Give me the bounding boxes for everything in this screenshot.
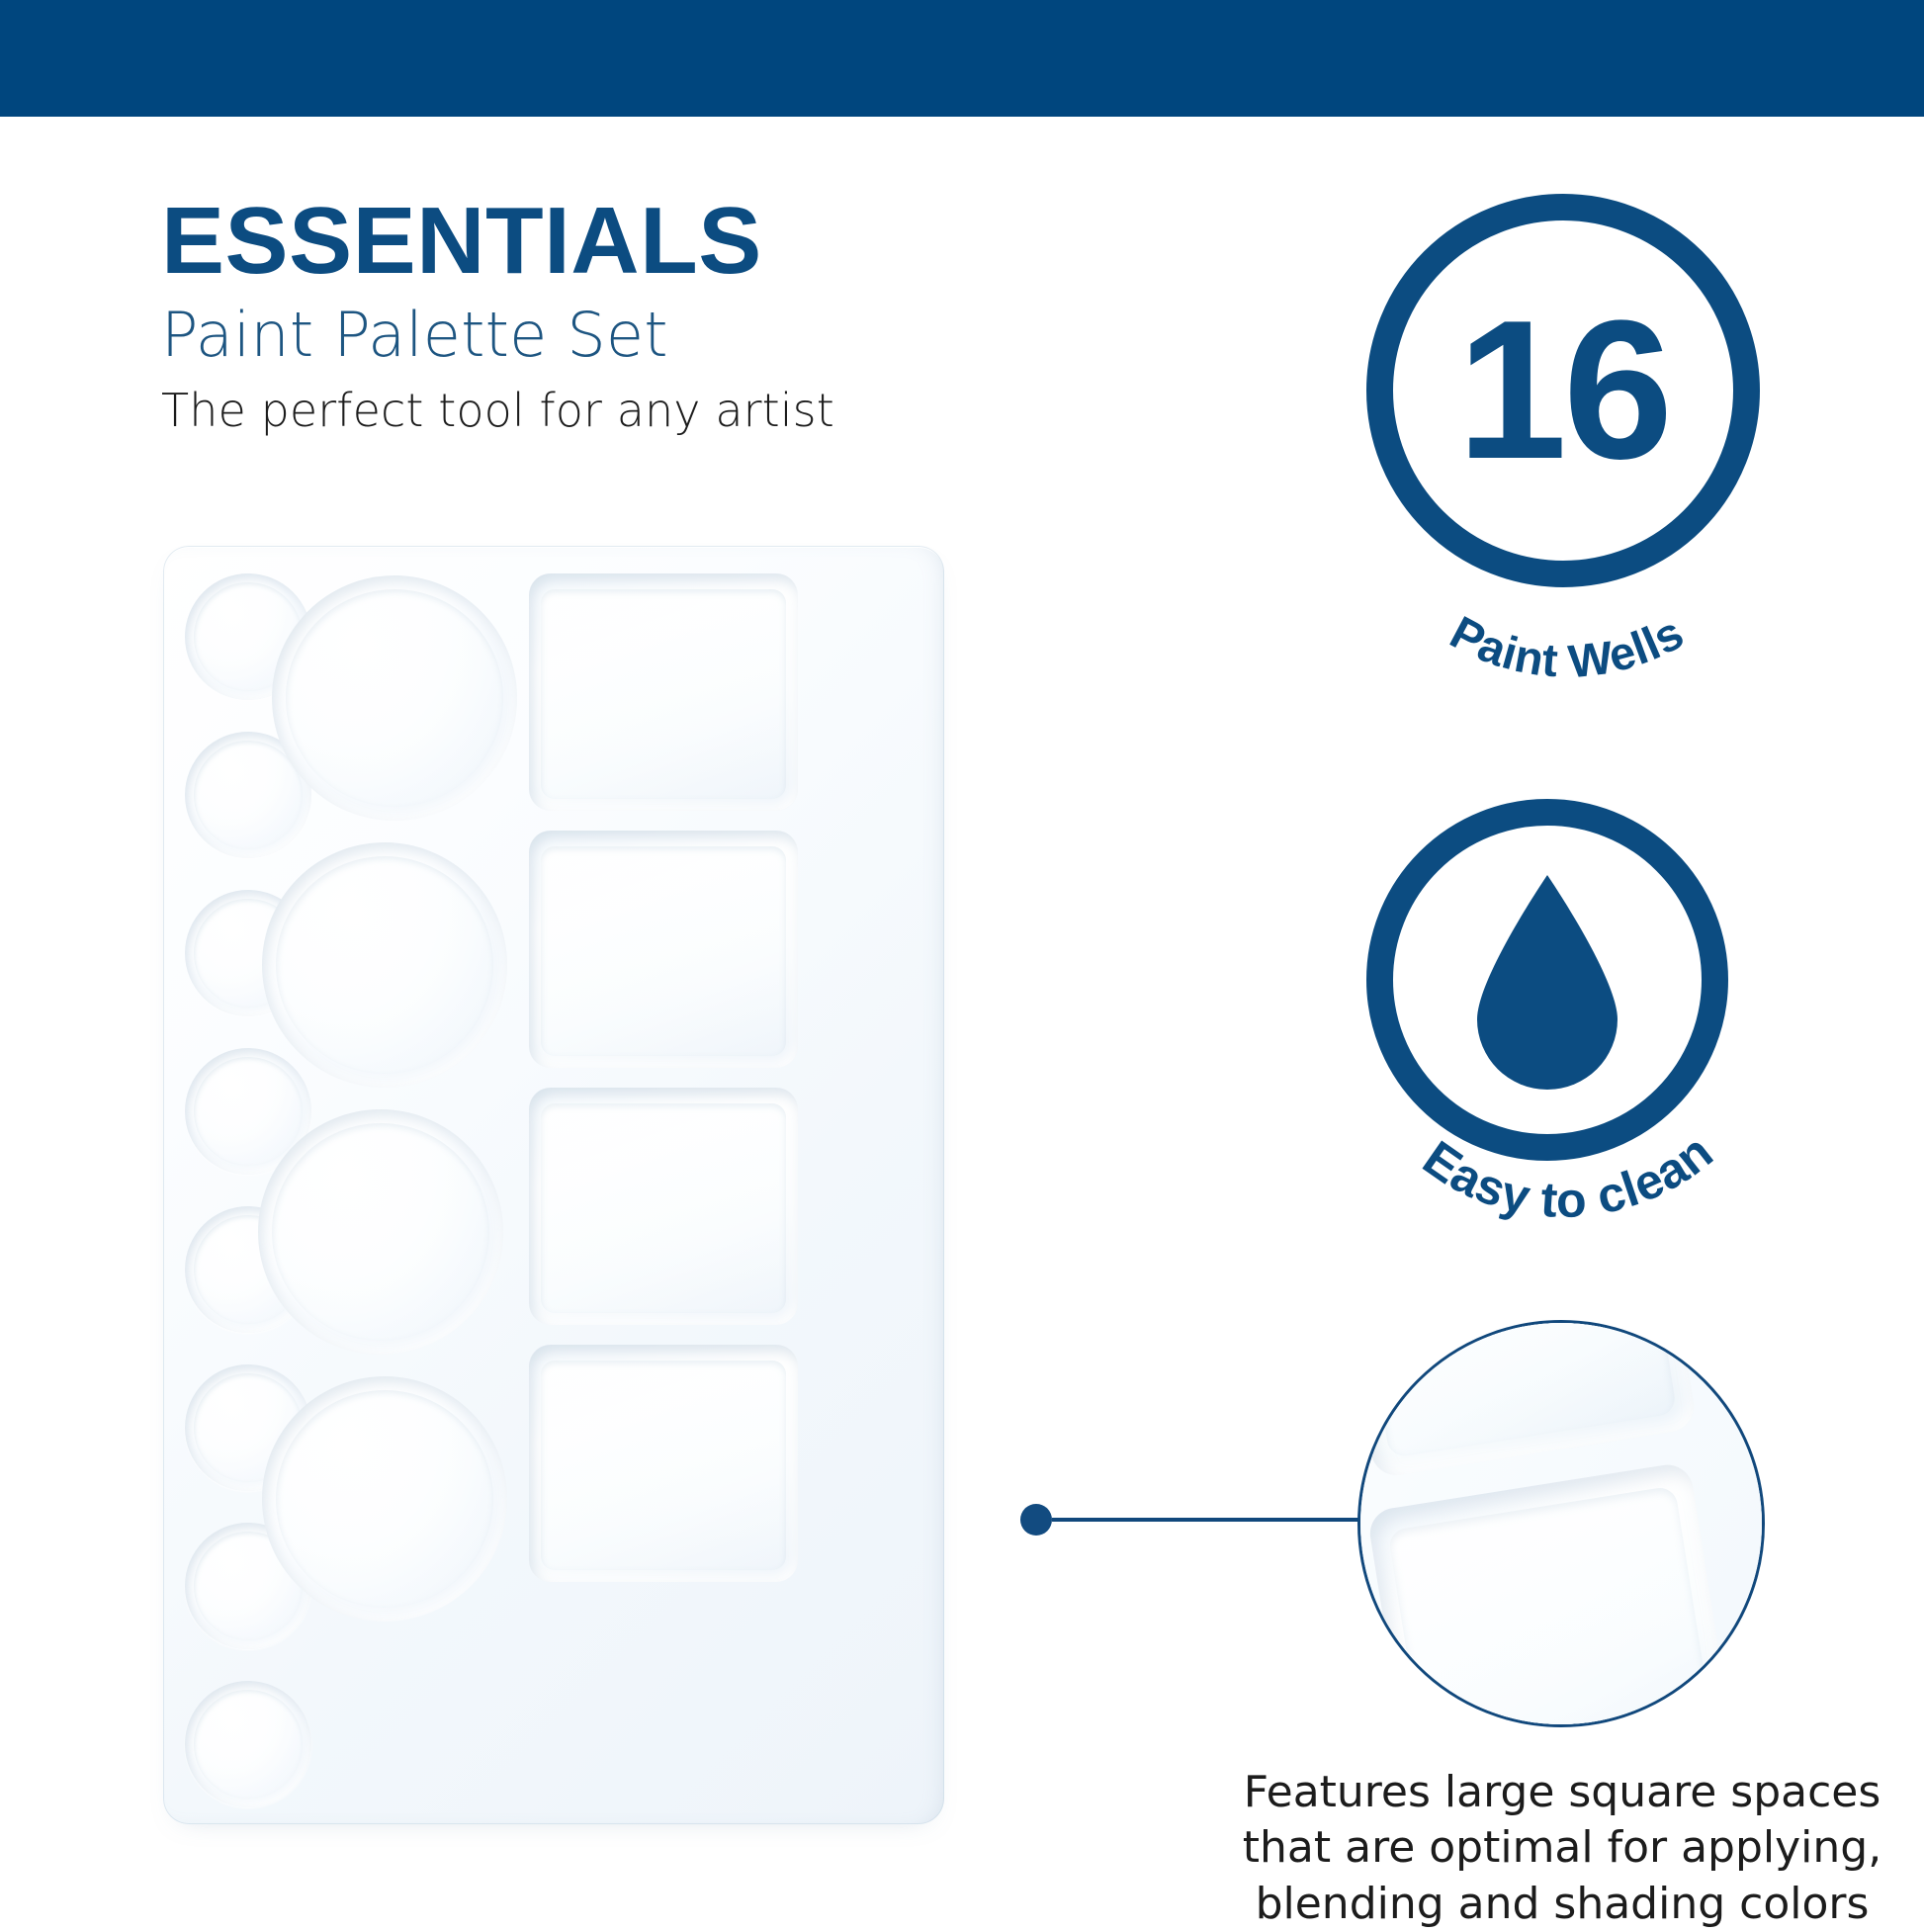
caption-line-2: that are optimal for applying, <box>1216 1820 1908 1876</box>
square-well <box>529 831 798 1068</box>
svg-text:Paint Wells: Paint Wells <box>1443 605 1693 687</box>
paint-wells-ring: 16 <box>1366 194 1760 587</box>
leader-line-dot <box>1020 1504 1052 1536</box>
paint-palette-image <box>163 546 944 1824</box>
easy-to-clean-ring <box>1366 799 1728 1161</box>
large-round-well <box>272 575 517 821</box>
square-well <box>529 573 798 811</box>
detail-callout-circle <box>1357 1320 1765 1727</box>
small-round-well <box>185 1681 311 1807</box>
paint-wells-label-text: Paint Wells <box>1443 605 1693 687</box>
caption-line-1: Features large square spaces <box>1216 1765 1908 1820</box>
easy-to-clean-label: Easy to clean <box>1315 1145 1809 1254</box>
leader-line <box>1052 1518 1358 1522</box>
square-well <box>529 1345 798 1582</box>
page-tagline: The perfect tool for any artist <box>161 385 1051 437</box>
square-well <box>529 1088 798 1325</box>
large-round-well <box>262 1376 507 1622</box>
paint-wells-label: Paint Wells <box>1325 581 1809 690</box>
large-round-well <box>258 1109 503 1355</box>
infographic-canvas: ESSENTIALS Paint Palette Set The perfect… <box>0 0 1924 1924</box>
header-text-block: ESSENTIALS Paint Palette Set The perfect… <box>161 194 1051 437</box>
top-brand-bar <box>0 0 1924 117</box>
page-subtitle: Paint Palette Set <box>161 301 1051 369</box>
callout-caption: Features large square spaces that are op… <box>1216 1765 1908 1932</box>
caption-line-3: blending and shading colors <box>1216 1877 1908 1932</box>
large-round-well <box>262 842 507 1088</box>
magnified-palette-detail <box>1357 1320 1765 1727</box>
water-drop-icon <box>1393 826 1702 1134</box>
page-title: ESSENTIALS <box>161 194 1051 289</box>
paint-wells-count: 16 <box>1393 220 1733 561</box>
